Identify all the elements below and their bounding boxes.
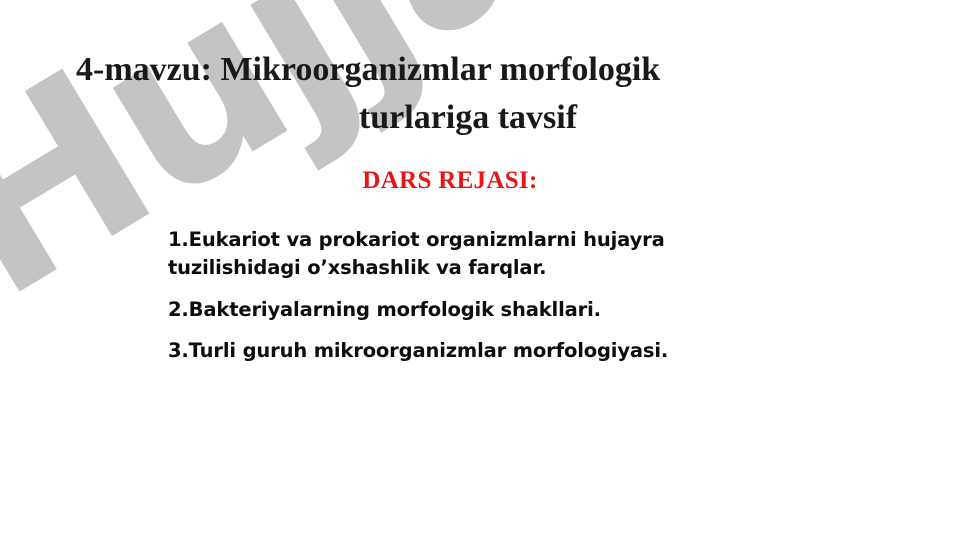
slide-content: 4-mavzu: Mikroorganizmlar morfologik tur… xyxy=(0,0,961,540)
plan-list-item: 3.Turli guruh mikroorganizmlar morfologi… xyxy=(168,337,868,365)
slide-title-line-2: turlariga tavsif xyxy=(60,94,790,142)
plan-list-item: 2.Bakteriyalarning morfologik shakllari. xyxy=(168,296,868,324)
slide-title: 4-mavzu: Mikroorganizmlar morfologik tur… xyxy=(60,46,790,143)
slide-title-line-1: 4-mavzu: Mikroorganizmlar morfologik xyxy=(60,46,790,94)
plan-list-item: 1.Eukariot va prokariot organizmlarni hu… xyxy=(168,226,768,283)
presentation-slide: Hujjat24 4-mavzu: Mikroorganizmlar morfo… xyxy=(0,0,961,540)
plan-heading: DARS REJASI: xyxy=(190,166,710,196)
plan-list: 1.Eukariot va prokariot organizmlarni hu… xyxy=(168,226,868,366)
